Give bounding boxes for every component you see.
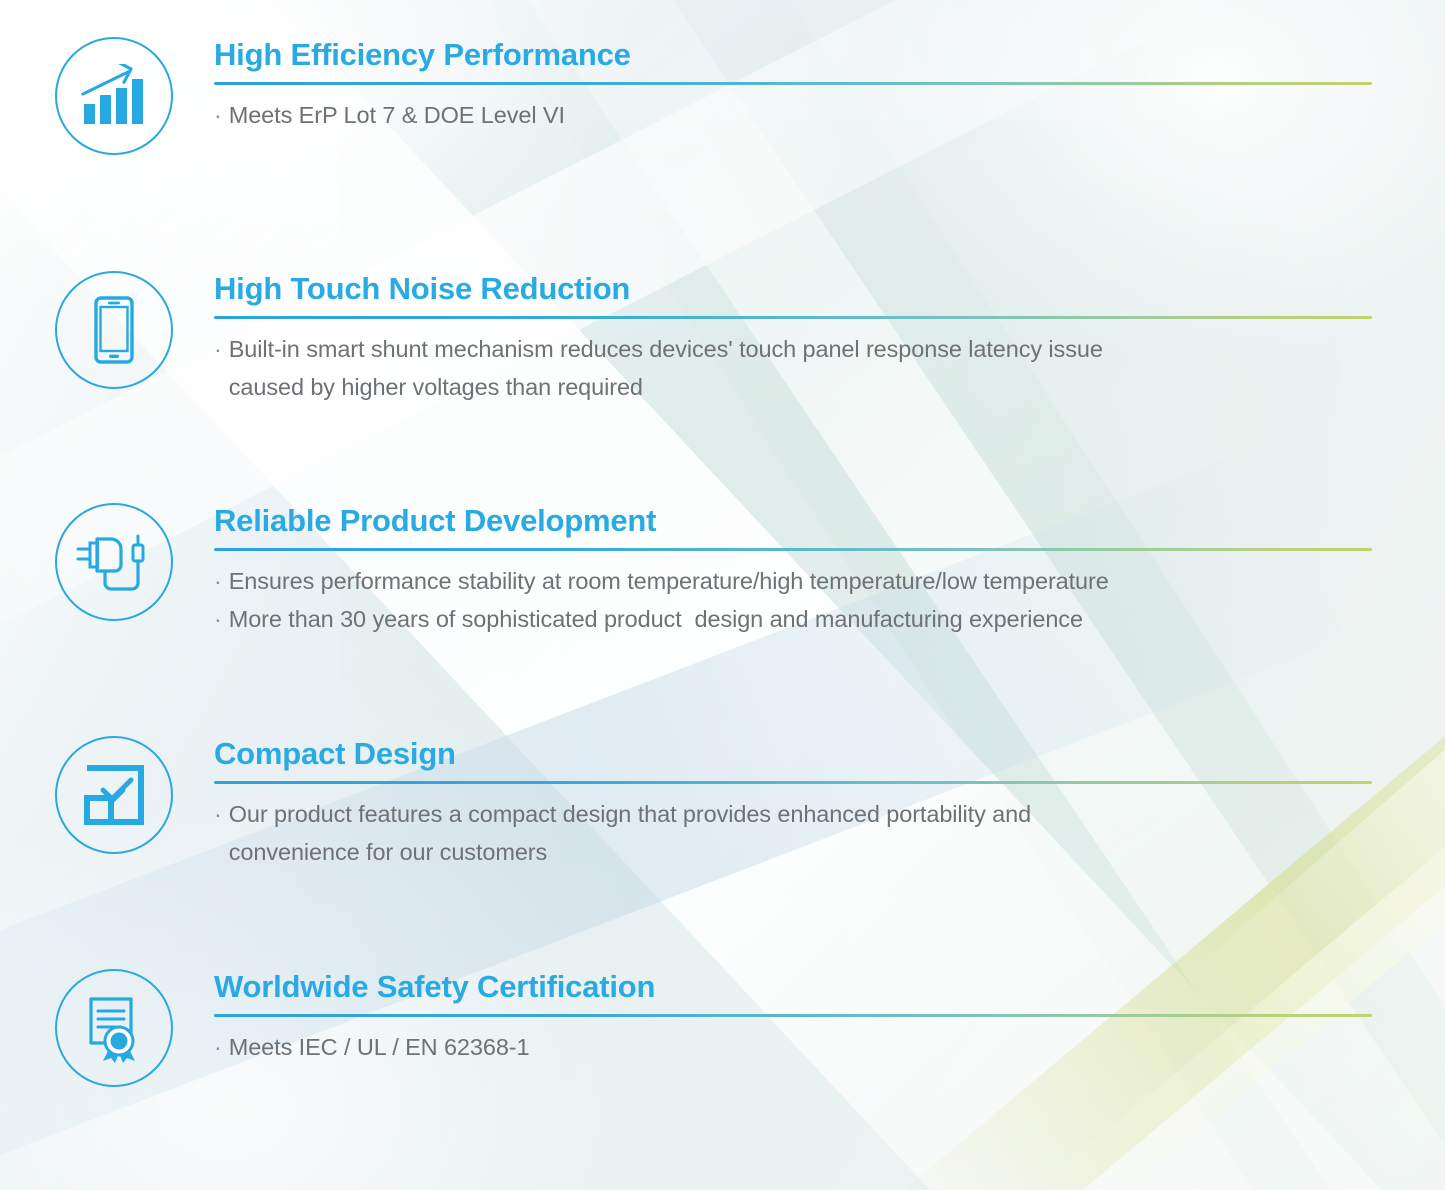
bullet-text: Our product features a compact design th… [229,795,1031,871]
bullet-text: Ensures performance stability at room te… [229,562,1109,600]
feature-divider [214,548,1372,551]
bar-chart-growth-icon [55,37,173,155]
feature-body: Compact Design · Our product features a … [214,733,1372,871]
bullet-marker: · [214,795,222,871]
smartphone-icon [55,271,173,389]
feature-icon-wrap [52,500,176,624]
feature-body: High Efficiency Performance · Meets ErP … [214,34,1372,134]
feature-item-worldwide-safety-certification: Worldwide Safety Certification · Meets I… [0,966,1372,1090]
feature-title: High Efficiency Performance [214,38,1372,73]
list-item: · Ensures performance stability at room … [214,562,1372,600]
feature-body: Worldwide Safety Certification · Meets I… [214,966,1372,1066]
feature-title: High Touch Noise Reduction [214,272,1372,307]
feature-bullets: · Built-in smart shunt mechanism reduces… [214,330,1372,406]
feature-title: Reliable Product Development [214,504,1372,539]
list-item: · Meets IEC / UL / EN 62368-1 [214,1028,1372,1066]
feature-item-compact-design: Compact Design · Our product features a … [0,733,1372,871]
list-item: · More than 30 years of sophisticated pr… [214,600,1372,638]
feature-bullets: · Our product features a compact design … [214,795,1372,871]
feature-divider [214,82,1372,85]
feature-list: High Efficiency Performance · Meets ErP … [0,0,1445,1190]
feature-item-reliable-product-development: Reliable Product Development · Ensures p… [0,500,1372,638]
feature-body: Reliable Product Development · Ensures p… [214,500,1372,638]
power-adapter-icon [55,503,173,621]
bullet-marker: · [214,600,222,638]
bullet-marker: · [214,562,222,600]
feature-bullets: · Ensures performance stability at room … [214,562,1372,638]
compact-resize-icon [55,736,173,854]
feature-body: High Touch Noise Reduction · Built-in sm… [214,268,1372,406]
list-item: · Our product features a compact design … [214,795,1372,871]
feature-title: Worldwide Safety Certification [214,970,1372,1005]
bullet-marker: · [214,1028,222,1066]
feature-divider [214,781,1372,784]
feature-item-high-touch-noise-reduction: High Touch Noise Reduction · Built-in sm… [0,268,1372,406]
list-item: · Meets ErP Lot 7 & DOE Level VI [214,96,1372,134]
feature-divider [214,1014,1372,1017]
bullet-marker: · [214,330,222,406]
feature-bullets: · Meets ErP Lot 7 & DOE Level VI [214,96,1372,134]
bullet-text: Meets IEC / UL / EN 62368-1 [229,1028,530,1066]
bullet-text: Built-in smart shunt mechanism reduces d… [229,330,1103,406]
feature-title: Compact Design [214,737,1372,772]
feature-icon-wrap [52,268,176,392]
feature-item-high-efficiency-performance: High Efficiency Performance · Meets ErP … [0,34,1372,158]
feature-icon-wrap [52,34,176,158]
bullet-text: Meets ErP Lot 7 & DOE Level VI [229,96,565,134]
feature-icon-wrap [52,966,176,1090]
bullet-marker: · [214,96,222,134]
bullet-text: More than 30 years of sophisticated prod… [229,600,1083,638]
feature-icon-wrap [52,733,176,857]
feature-bullets: · Meets IEC / UL / EN 62368-1 [214,1028,1372,1066]
list-item: · Built-in smart shunt mechanism reduces… [214,330,1372,406]
certificate-award-icon [55,969,173,1087]
feature-divider [214,316,1372,319]
